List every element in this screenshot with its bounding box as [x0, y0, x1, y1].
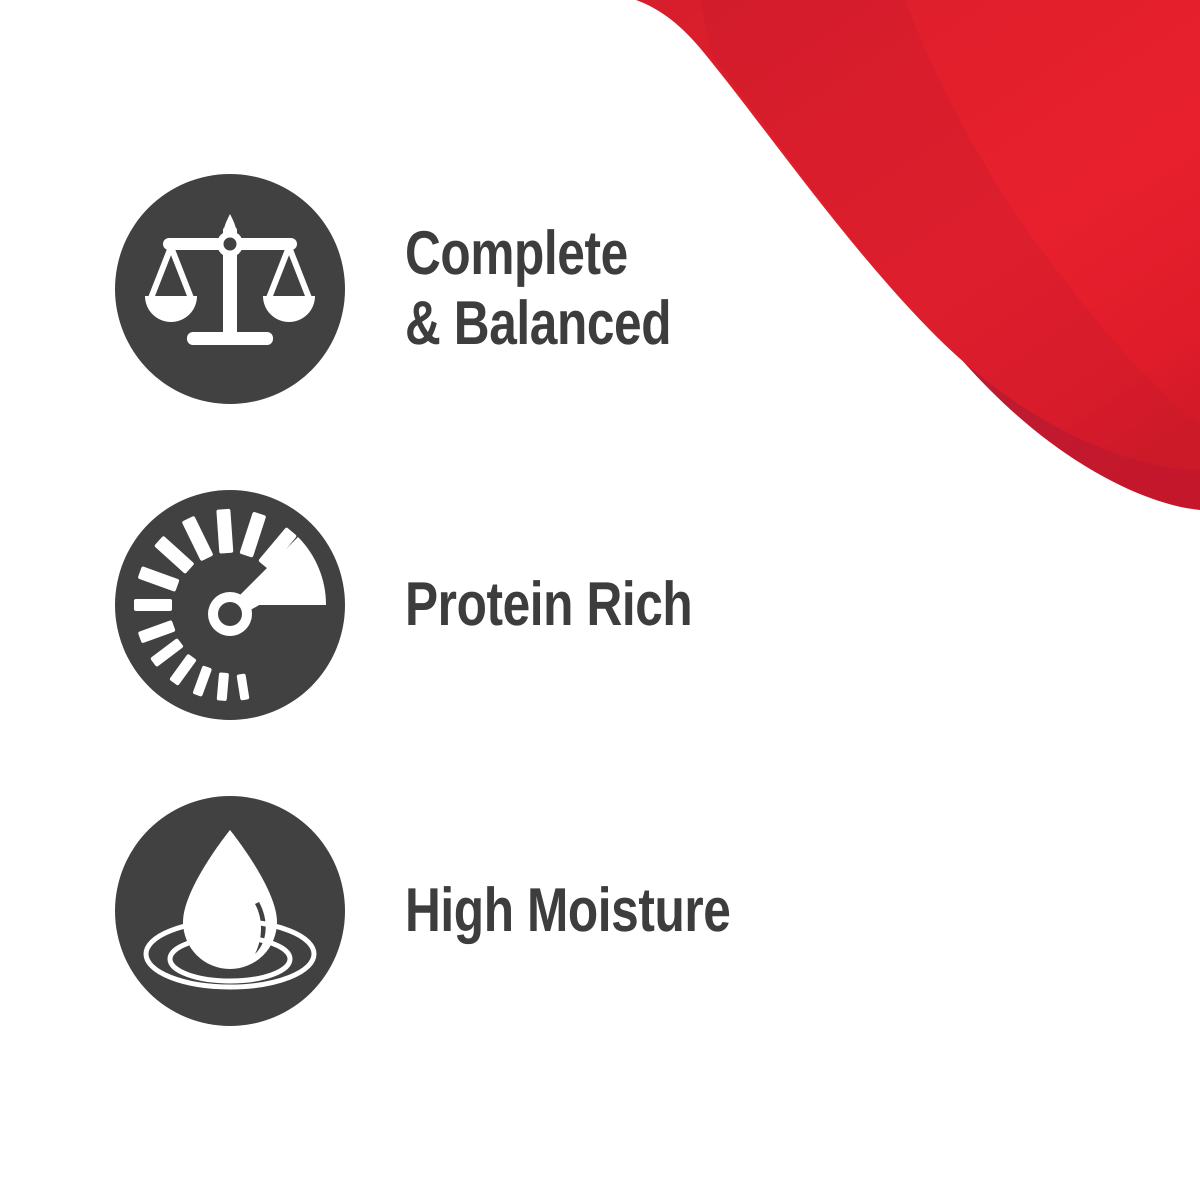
- fulcrum-pivot: [224, 238, 237, 251]
- feature-label-high-moisture: High Moisture: [405, 876, 730, 946]
- balance-scale-icon: [145, 214, 315, 364]
- gauge-icon: [121, 496, 339, 714]
- water-drop-icon: [137, 826, 323, 996]
- feature-label-protein-rich: Protein Rich: [405, 570, 692, 640]
- feature-row: Complete & Balanced: [0, 173, 1200, 405]
- feature-row: High Moisture: [0, 795, 1200, 1027]
- balance-scale-icon-badge: [115, 174, 345, 404]
- feature-label-complete-balanced: Complete & Balanced: [405, 219, 671, 359]
- gauge-icon-badge: [115, 490, 345, 720]
- infographic-canvas: Complete & Balanced: [0, 0, 1200, 1200]
- feature-row: Protein Rich: [0, 489, 1200, 721]
- water-drop-icon-badge: [115, 796, 345, 1026]
- droplet-shape: [183, 830, 277, 969]
